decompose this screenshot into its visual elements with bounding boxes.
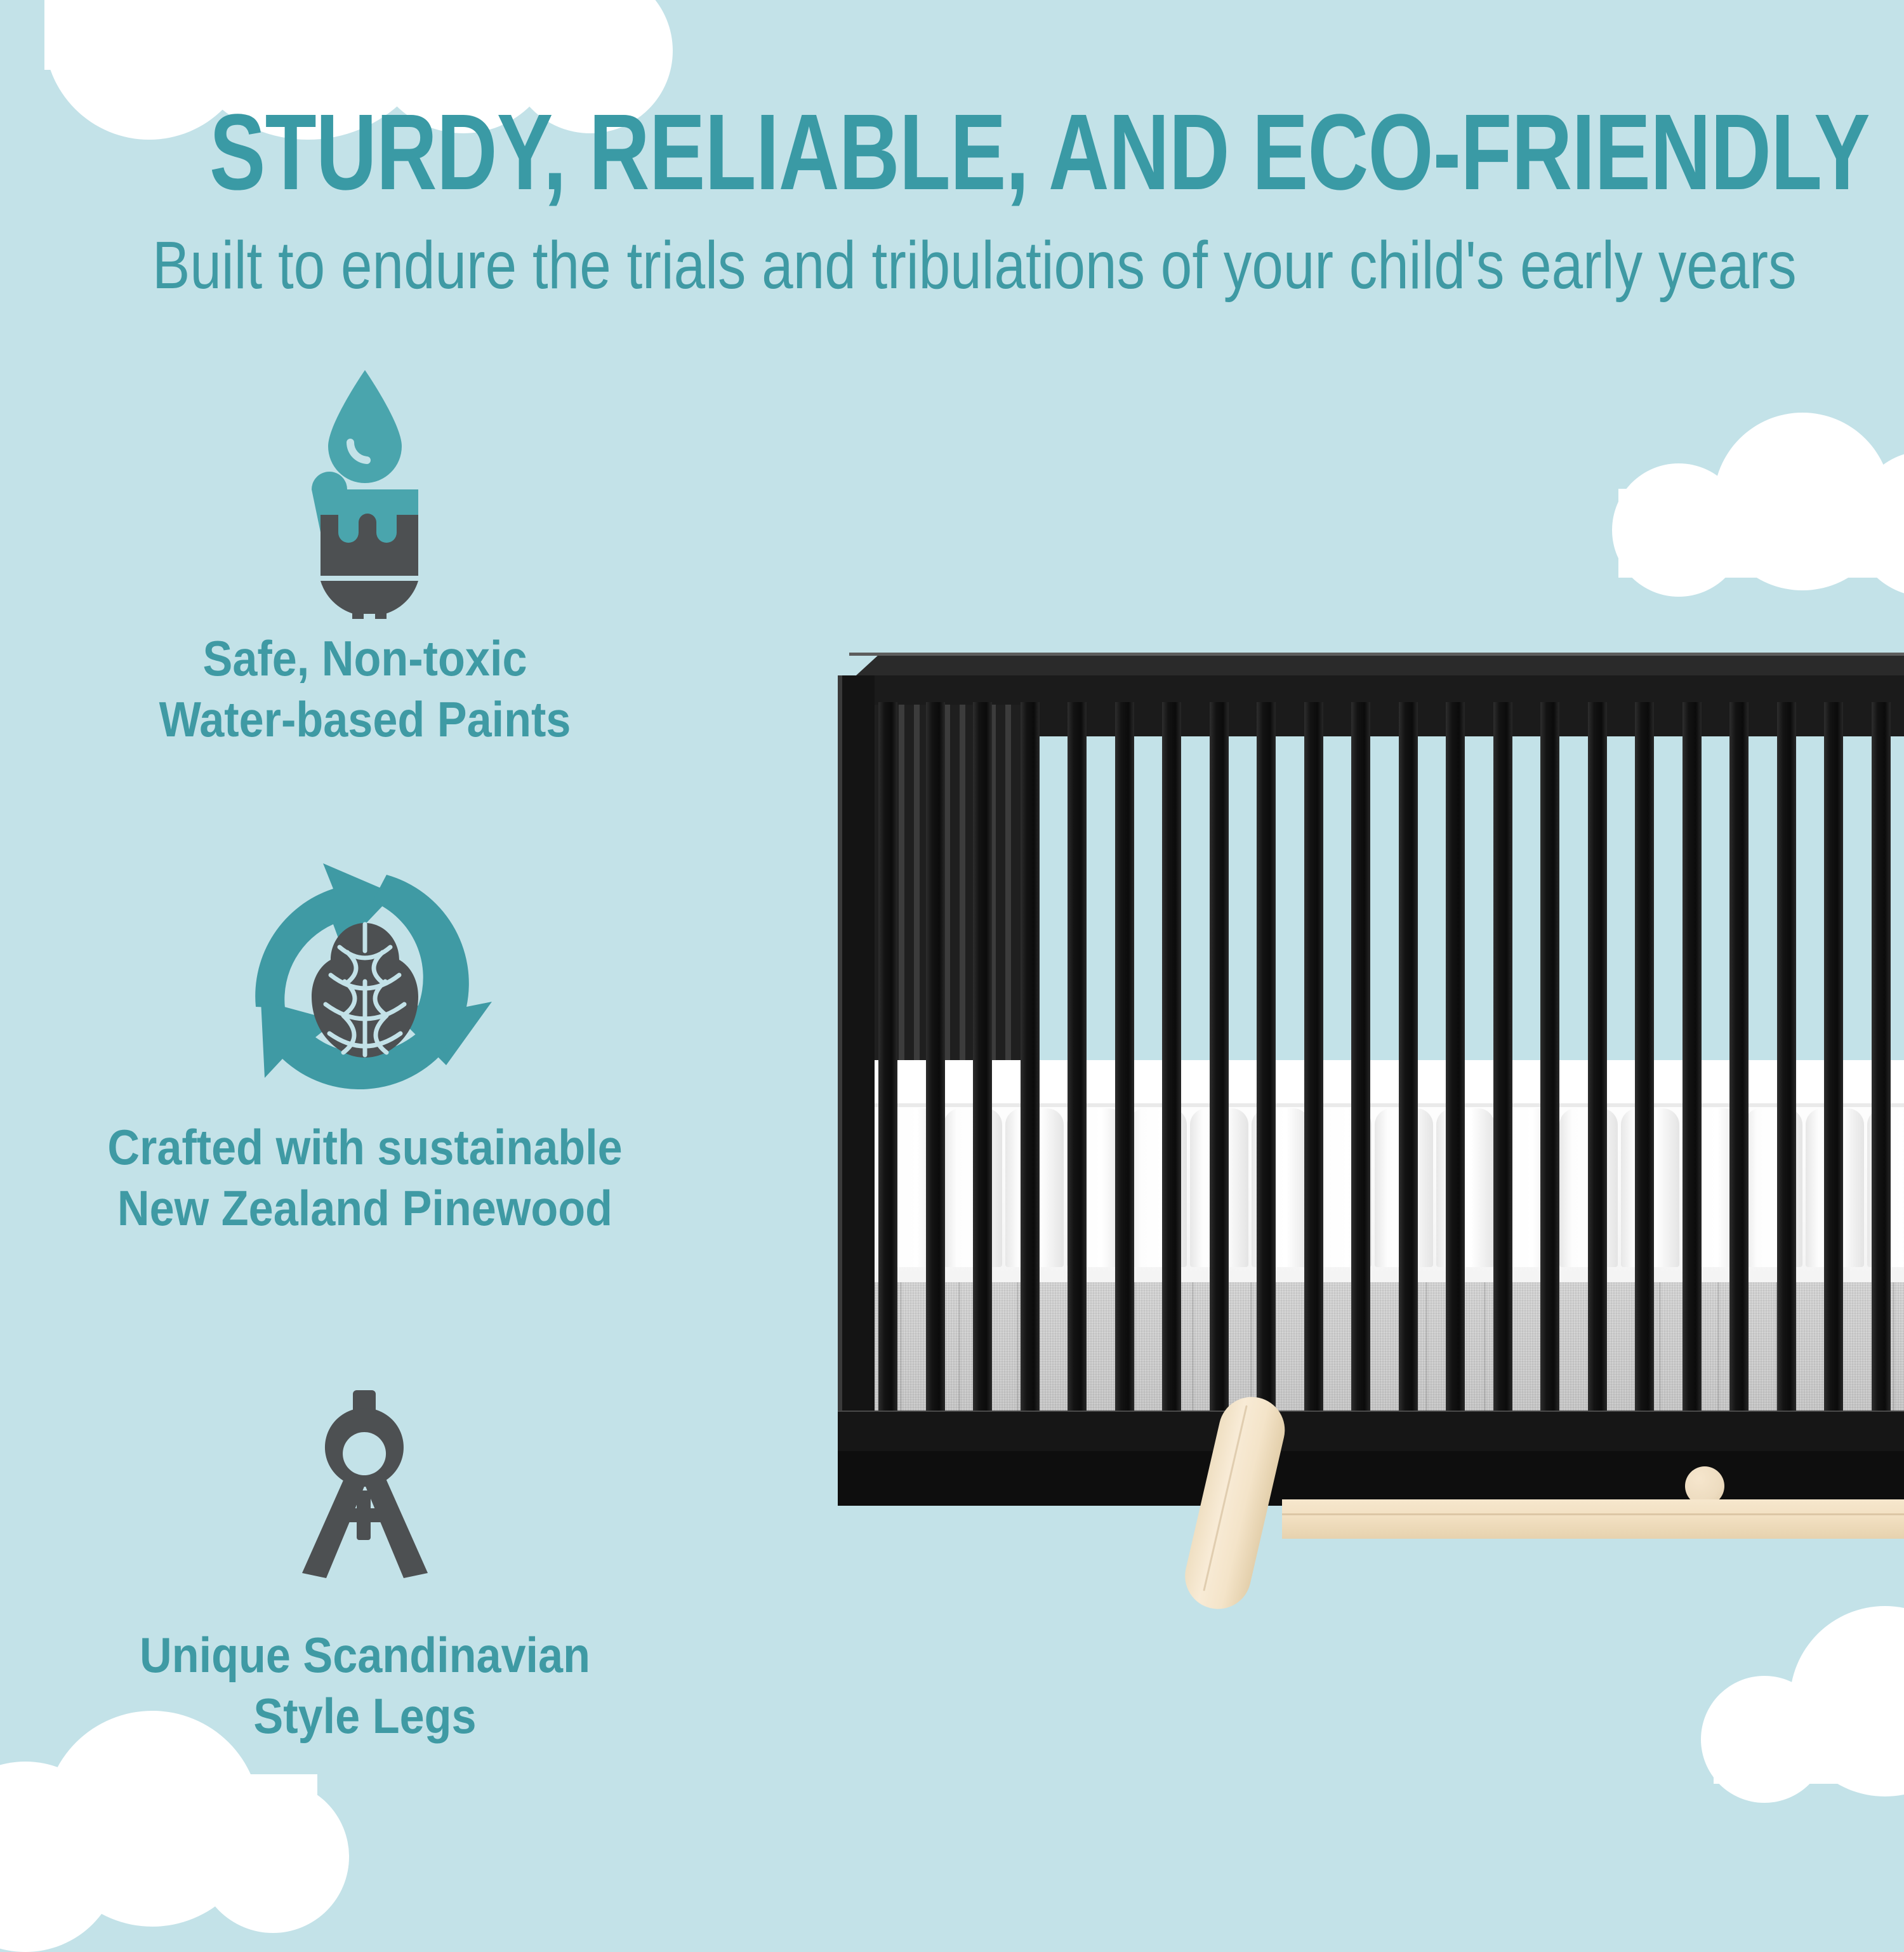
crib-slat bbox=[1493, 702, 1512, 1412]
crib-slat bbox=[878, 702, 897, 1412]
recycle-pinecone-icon bbox=[0, 844, 730, 1117]
crib-slats bbox=[875, 702, 1904, 1412]
crib-slat bbox=[1162, 702, 1181, 1412]
cloud-bottom-left bbox=[0, 1736, 406, 1946]
feature-label-sustainable-pinewood: Crafted with sustainable New Zealand Pin… bbox=[37, 1117, 694, 1239]
feature-label-safe-paints: Safe, Non-toxic Water-based Paints bbox=[37, 628, 694, 750]
cloud-right-upper bbox=[1599, 406, 1904, 609]
crib-left-corner-post bbox=[838, 675, 875, 1431]
crib-slat bbox=[1257, 702, 1276, 1412]
crib-slat bbox=[1210, 702, 1229, 1412]
paintbrush-with-water-drop-icon bbox=[0, 355, 730, 628]
drafting-compass-icon bbox=[0, 1371, 730, 1625]
feature-item-scandinavian-legs: Unique Scandinavian Style Legs bbox=[0, 1371, 730, 1747]
header-block: STURDY, RELIABLE, AND ECO-FRIENDLY Built… bbox=[0, 0, 1904, 299]
crib-slat bbox=[1872, 702, 1891, 1412]
crib-slat bbox=[1540, 702, 1559, 1412]
crib-slat bbox=[1304, 702, 1323, 1412]
crib-slat bbox=[1446, 702, 1465, 1412]
feature-item-safe-paints: Safe, Non-toxic Water-based Paints bbox=[0, 355, 730, 750]
feature-item-sustainable-pinewood: Crafted with sustainable New Zealand Pin… bbox=[0, 844, 730, 1239]
crib-top-highlight bbox=[849, 653, 1904, 656]
crib-slat bbox=[1399, 702, 1418, 1412]
crib-slat bbox=[1729, 702, 1749, 1412]
page-subtitle: Built to endure the trials and tribulati… bbox=[152, 232, 1752, 299]
crib-slat bbox=[1588, 702, 1607, 1412]
crib-slat bbox=[1683, 702, 1702, 1412]
feature-label-scandinavian-legs: Unique Scandinavian Style Legs bbox=[37, 1625, 694, 1747]
crib-slat bbox=[1021, 702, 1040, 1412]
product-image-crib bbox=[800, 641, 1904, 1543]
crib-bottom-rail bbox=[838, 1412, 1904, 1456]
crib-slat bbox=[1115, 702, 1134, 1412]
crib-slat bbox=[1777, 702, 1796, 1412]
crib-slat bbox=[973, 702, 992, 1412]
crib-wood-runner-bar bbox=[1282, 1499, 1904, 1539]
cloud-bottom-right bbox=[1701, 1612, 1904, 1816]
crib-base-rail bbox=[838, 1451, 1904, 1506]
page-title: STURDY, RELIABLE, AND ECO-FRIENDLY bbox=[209, 98, 1695, 206]
crib-left-post-edge-highlight bbox=[838, 675, 842, 1431]
crib-slat bbox=[1824, 702, 1843, 1412]
crib-slat bbox=[1635, 702, 1654, 1412]
crib-slat bbox=[1068, 702, 1087, 1412]
crib-slat bbox=[1351, 702, 1370, 1412]
crib-slat bbox=[926, 702, 945, 1412]
